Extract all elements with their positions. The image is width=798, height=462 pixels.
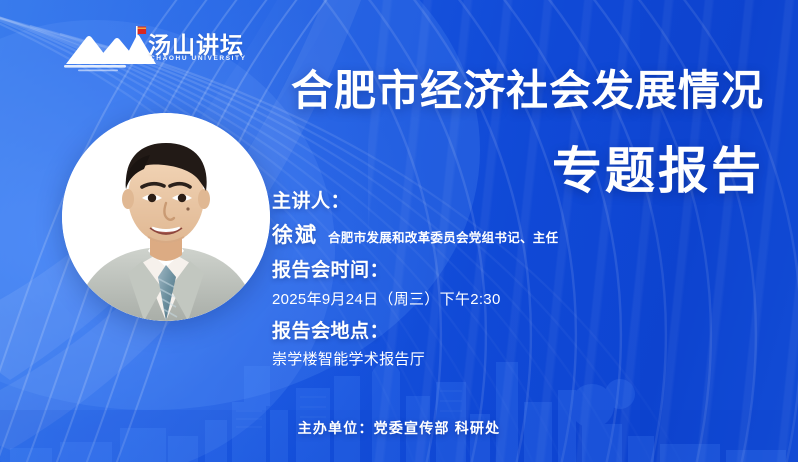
organizer-line: 主办单位：党委宣传部 科研处 — [0, 418, 798, 438]
event-details: 主讲人： 徐斌 合肥市发展和改革委员会党组书记、主任 报告会时间： 2025年9… — [272, 190, 558, 369]
speaker-portrait — [62, 113, 270, 321]
place-value: 崇学楼智能学术报告厅 — [272, 348, 558, 369]
speaker-row: 徐斌 合肥市发展和改革委员会党组书记、主任 — [272, 219, 558, 249]
event-poster: 汤山讲坛 CHAOHU UNIVERSITY — [0, 0, 798, 462]
speaker-name: 徐斌 — [272, 219, 318, 249]
page-title-line-2: 专题报告 — [552, 131, 764, 203]
mountain-peaks-icon — [64, 24, 160, 72]
page-title-line-1: 合肥市经济社会发展情况 — [291, 57, 764, 118]
speaker-portrait-photo — [62, 113, 270, 321]
time-value: 2025年9月24日（周三）下午2:30 — [272, 288, 558, 309]
logo-latin-name: CHAOHU UNIVERSITY — [150, 55, 247, 62]
brand-logo: 汤山讲坛 CHAOHU UNIVERSITY — [64, 22, 244, 78]
speaker-label: 主讲人： — [272, 190, 558, 214]
place-label: 报告会地点： — [272, 320, 558, 344]
time-label: 报告会时间： — [272, 259, 558, 283]
speaker-position: 合肥市发展和改革委员会党组书记、主任 — [328, 227, 558, 246]
